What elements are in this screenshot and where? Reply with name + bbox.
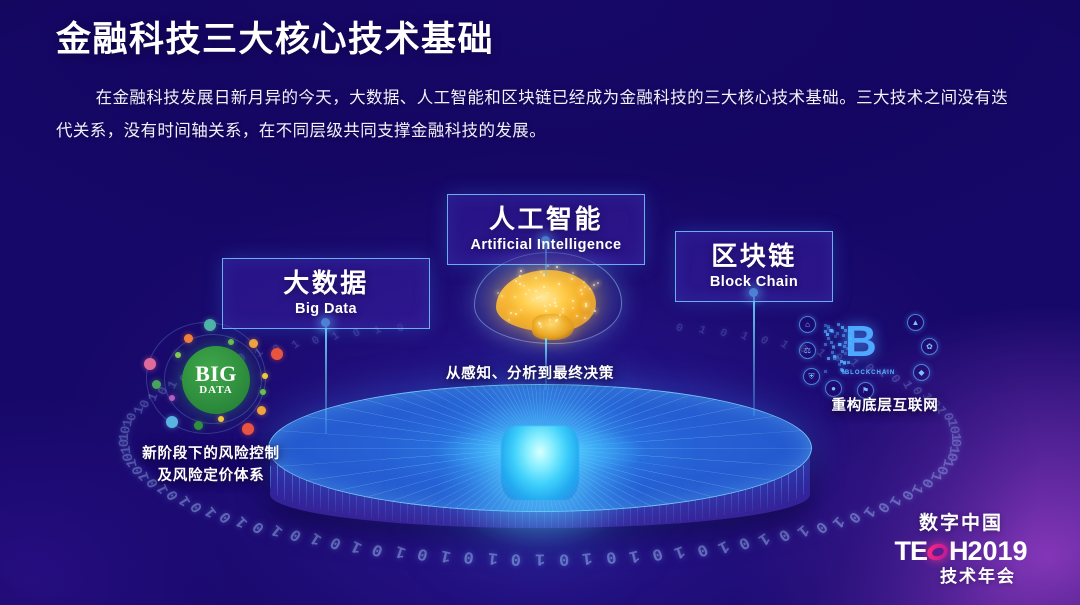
binary-digit: 0 [351, 327, 362, 341]
platform-disc [260, 378, 820, 553]
brain-synapse-dot [549, 304, 551, 306]
slide-root: 金融科技三大核心技术基础 在金融科技发展日新月异的今天，大数据、人工智能和区块链… [0, 0, 1080, 605]
disc-side-line [803, 465, 804, 501]
blockchain-pixel [842, 334, 845, 337]
bigdata-node-icon [218, 416, 224, 422]
logo-swoosh-icon [926, 541, 950, 562]
connector-line-bigdata [325, 322, 327, 434]
blockchain-pixel [843, 362, 846, 365]
brain-synapse-dot [571, 278, 573, 280]
blockchain-pixel [838, 363, 841, 366]
brain-synapse-dot [562, 308, 564, 310]
brain-icon [474, 252, 622, 344]
label-bigdata-cn: 大数据 [245, 268, 407, 299]
label-chain-en: Block Chain [698, 274, 810, 290]
label-chain-cn: 区块链 [698, 241, 810, 272]
bigdata-node-icon [144, 358, 156, 370]
brain-synapse-dot [535, 277, 537, 279]
slide-header: 金融科技三大核心技术基础 在金融科技发展日新月异的今天，大数据、人工智能和区块链… [0, 0, 1080, 148]
caption-bigdata: 新阶段下的风险控制 及风险定价体系 [104, 443, 318, 488]
blockchain-pixel [833, 355, 836, 358]
brain-synapse-dot [519, 275, 521, 277]
blockchain-node-icon: ⛨ [803, 368, 820, 385]
blockchain-pixel [824, 330, 827, 333]
blockchain-pixel [834, 335, 837, 338]
brain-synapse-dot [558, 283, 560, 285]
bigdata-node-icon [260, 389, 266, 395]
blockchain-node-icon: ✿ [921, 338, 938, 355]
logo-year: 2019 [967, 538, 1027, 565]
bigdata-node-icon [184, 334, 193, 343]
brain-synapse-dot [497, 292, 499, 294]
bigdata-node-icon [257, 406, 266, 415]
binary-digit: 0 [309, 333, 322, 348]
slide-body-text: 在金融科技发展日新月异的今天，大数据、人工智能和区块链已经成为金融科技的三大核心… [56, 82, 1024, 148]
logo-subtitle-cn: 技术年会 [910, 566, 1046, 587]
bigdata-node-icon [175, 352, 181, 358]
bigdata-core-label-bottom: DATA [199, 384, 233, 396]
binary-digit: 1 [696, 324, 707, 338]
blockchain-pixel [846, 347, 849, 350]
page-title: 金融科技三大核心技术基础 [56, 18, 1024, 62]
binary-digit: 1 [289, 337, 302, 352]
blockchain-icon-cluster: B BLOCKCHAIN ⌂⚖⛨▲✿◆⚑● [795, 312, 945, 400]
brain-synapse-dot [508, 319, 510, 321]
brain-synapse-dot [572, 272, 574, 274]
blockchain-pixel [824, 370, 827, 373]
caption-chain: 重构底层互联网 [800, 395, 970, 417]
bigdata-node-icon [228, 339, 234, 345]
brain-synapse-dot [589, 288, 591, 290]
binary-digit: 1 [330, 330, 342, 344]
logo-tech-part1: TE [894, 538, 927, 565]
brain-synapse-dot [554, 298, 556, 300]
blockchain-pixel [840, 368, 843, 371]
binary-digit: 1 [738, 330, 750, 344]
brain-stem [532, 314, 574, 340]
logo-tech-part2: H [949, 538, 968, 565]
binary-digit: 0 [674, 322, 684, 336]
brain-synapse-dot [583, 281, 585, 283]
blockchain-node-icon: ⌂ [799, 316, 816, 333]
binary-digit: 0 [717, 327, 728, 341]
blockchain-pixel [831, 351, 834, 354]
brain-synapse-dot [554, 302, 556, 304]
connector-line-chain [753, 292, 755, 416]
blockchain-pixel [837, 323, 840, 326]
blockchain-node-icon: ⚖ [799, 342, 816, 359]
label-box-ai[interactable]: 人工智能 Artificial Intelligence [447, 194, 645, 265]
label-ai-en: Artificial Intelligence [470, 237, 622, 253]
bigdata-node-icon [262, 373, 268, 379]
caption-bigdata-line2: 及风险定价体系 [104, 465, 318, 487]
blockchain-pixel [832, 346, 835, 349]
bigdata-icon-cluster: BIG DATA [138, 318, 290, 440]
bigdata-node-icon [249, 339, 258, 348]
blockchain-pixel [844, 352, 847, 355]
blockchain-wordmark: BLOCKCHAIN [839, 370, 901, 376]
bigdata-node-icon [204, 319, 216, 331]
blockchain-pixel [844, 341, 847, 344]
blockchain-pixel [841, 350, 844, 353]
caption-ai: 从感知、分析到最终决策 [430, 363, 630, 385]
disc-core-beam [501, 426, 579, 500]
bigdata-core-badge: BIG DATA [182, 346, 250, 414]
brain-synapse-dot [540, 326, 542, 328]
blockchain-pixel [827, 357, 830, 360]
bigdata-core-label-top: BIG [195, 364, 237, 385]
blockchain-pixel [824, 324, 827, 327]
blockchain-pixel [830, 341, 833, 344]
bitcoin-b-symbol: B [845, 320, 893, 372]
blockchain-pixel [849, 329, 852, 332]
blockchain-pixel [827, 327, 830, 330]
blockchain-pixel [844, 329, 847, 332]
blockchain-pixel [839, 343, 842, 346]
brain-synapse-dot [515, 313, 517, 315]
blockchain-pixel [826, 333, 829, 336]
blockchain-node-icon: ◆ [913, 364, 930, 381]
binary-digit: 0 [758, 333, 771, 348]
blockchain-pixel [836, 356, 839, 359]
label-box-bigdata[interactable]: 大数据 Big Data [222, 258, 430, 329]
blockchain-pixel [824, 343, 827, 346]
label-ai-cn: 人工智能 [470, 204, 622, 235]
brain-synapse-dot [545, 310, 547, 312]
logo-title-cn: 数字中国 [876, 513, 1046, 536]
label-box-chain[interactable]: 区块链 Block Chain [675, 231, 833, 302]
logo-tech-wordmark: TE H 2019 [876, 538, 1046, 565]
brain-synapse-dot [584, 317, 586, 319]
bigdata-node-icon [242, 423, 254, 435]
binary-digit: 1 [777, 337, 790, 352]
brain-synapse-dot [597, 282, 599, 284]
bigdata-node-icon [194, 421, 203, 430]
blockchain-node-icon: ▲ [907, 314, 924, 331]
label-bigdata-en: Big Data [245, 301, 407, 317]
blockchain-pixel [849, 337, 852, 340]
blockchain-pixel [827, 337, 830, 340]
caption-bigdata-line1: 新阶段下的风险控制 [104, 443, 318, 465]
blockchain-pixel [849, 342, 852, 345]
blockchain-pixel [847, 361, 850, 364]
event-logo: 数字中国 TE H 2019 技术年会 [876, 513, 1046, 587]
brain-synapse-dot [510, 312, 512, 314]
brain-synapse-dot [520, 270, 522, 272]
bigdata-node-icon [271, 348, 283, 360]
